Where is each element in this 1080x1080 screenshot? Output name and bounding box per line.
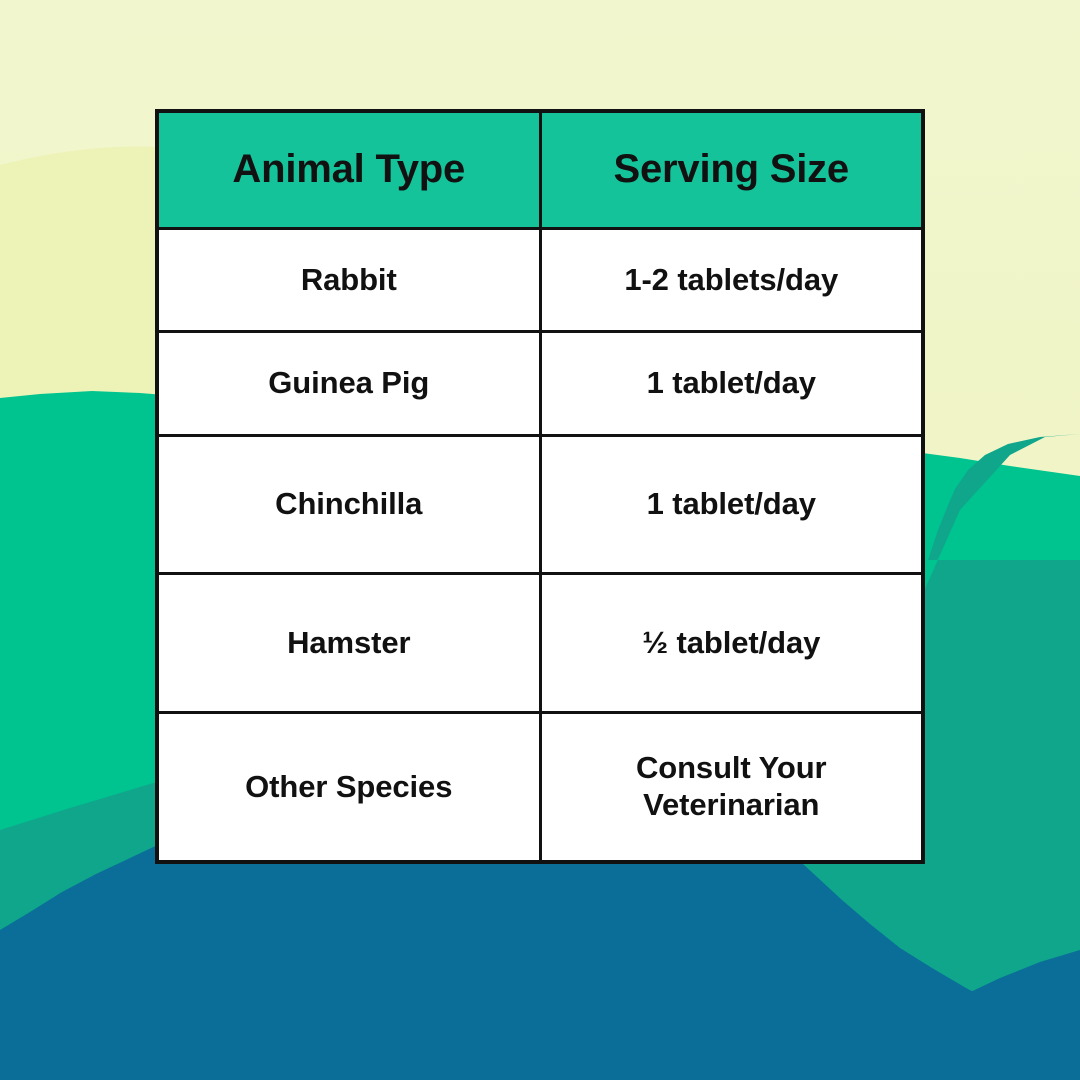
cell-animal-type: Chinchilla <box>157 436 540 574</box>
table-row: Rabbit 1-2 tablets/day <box>157 229 923 332</box>
cell-serving-size: 1 tablet/day <box>540 332 923 436</box>
column-header-animal-type: Animal Type <box>157 111 540 229</box>
cell-animal-type: Rabbit <box>157 229 540 332</box>
table-row: Chinchilla 1 tablet/day <box>157 436 923 574</box>
table-body: Rabbit 1-2 tablets/day Guinea Pig 1 tabl… <box>157 229 923 863</box>
cell-serving-size: 1 tablet/day <box>540 436 923 574</box>
serving-size-table: Animal Type Serving Size Rabbit 1-2 tabl… <box>155 109 925 864</box>
cell-serving-size: ½ tablet/day <box>540 574 923 713</box>
cell-animal-type: Hamster <box>157 574 540 713</box>
cell-serving-size: 1-2 tablets/day <box>540 229 923 332</box>
cell-animal-type: Guinea Pig <box>157 332 540 436</box>
table-header: Animal Type Serving Size <box>157 111 923 229</box>
poster-canvas: Animal Type Serving Size Rabbit 1-2 tabl… <box>0 0 1080 1080</box>
table-row: Hamster ½ tablet/day <box>157 574 923 713</box>
table-row: Other Species Consult Your Veterinarian <box>157 713 923 863</box>
cell-animal-type: Other Species <box>157 713 540 863</box>
table-header-row: Animal Type Serving Size <box>157 111 923 229</box>
column-header-serving-size: Serving Size <box>540 111 923 229</box>
serving-size-table-container: Animal Type Serving Size Rabbit 1-2 tabl… <box>155 109 925 793</box>
cell-serving-size: Consult Your Veterinarian <box>540 713 923 863</box>
table-row: Guinea Pig 1 tablet/day <box>157 332 923 436</box>
